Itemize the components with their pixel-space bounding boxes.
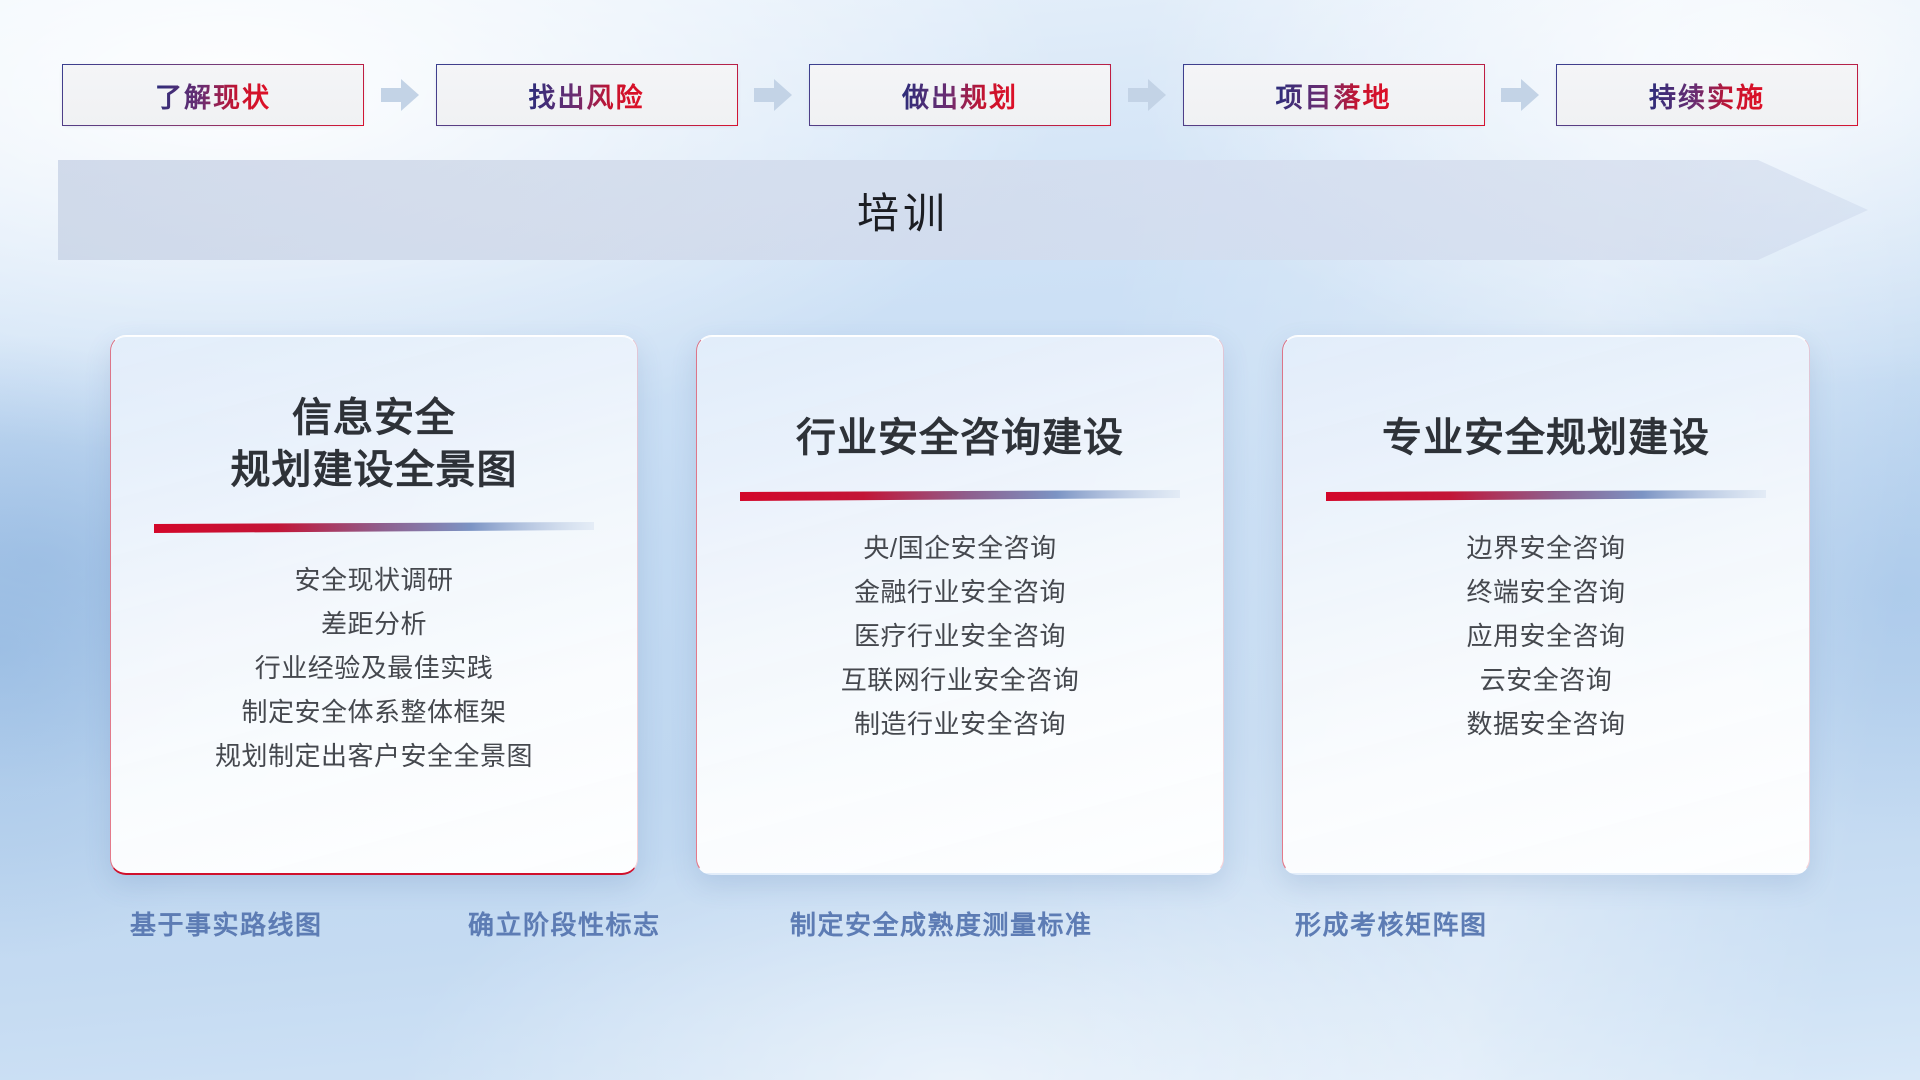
caption-maturity: 制定安全成熟度测量标准: [790, 905, 1093, 942]
list-item: 应用安全咨询: [1309, 614, 1783, 658]
card-row: 信息安全 规划建设全景图 安全现状调研 差距分析 行业经验及最佳实践: [110, 335, 1810, 875]
caption-roadmap: 基于事实路线图: [130, 905, 323, 942]
chevron-right-block-icon: [752, 76, 794, 114]
card-divider-icon: [154, 522, 594, 534]
list-item: 终端安全咨询: [1309, 570, 1783, 614]
list-item: 安全现状调研: [137, 558, 611, 602]
process-step-label: 持续实施: [1649, 76, 1765, 115]
card-title: 信息安全 规划建设全景图: [231, 392, 518, 496]
card-divider-icon: [740, 490, 1180, 502]
list-item: 边界安全咨询: [1309, 526, 1783, 570]
card-item-list: 边界安全咨询 终端安全咨询 应用安全咨询 云安全咨询 数据安全咨询: [1309, 526, 1783, 746]
caption-matrix: 形成考核矩阵图: [1295, 905, 1488, 942]
list-item: 制造行业安全咨询: [723, 702, 1197, 746]
list-item: 医疗行业安全咨询: [723, 614, 1197, 658]
list-item: 差距分析: [137, 602, 611, 646]
process-step-3[interactable]: 做出规划: [809, 64, 1111, 126]
list-item: 央/国企安全咨询: [723, 526, 1197, 570]
list-item: 行业经验及最佳实践: [137, 646, 611, 690]
caption-milestones: 确立阶段性标志: [468, 905, 661, 942]
chevron-right-block-icon: [379, 76, 421, 114]
list-item: 制定安全体系整体框架: [137, 690, 611, 734]
process-step-label: 项目落地: [1276, 76, 1392, 115]
chevron-right-block-icon: [1499, 76, 1541, 114]
process-step-label: 找出风险: [529, 76, 645, 115]
card-item-list: 安全现状调研 差距分析 行业经验及最佳实践 制定安全体系整体框架 规划制定出客户…: [137, 558, 611, 778]
training-banner: 培训: [58, 160, 1868, 260]
card-title: 专业安全规划建设: [1382, 412, 1710, 464]
list-item: 互联网行业安全咨询: [723, 658, 1197, 702]
list-item: 云安全咨询: [1309, 658, 1783, 702]
card-title: 行业安全咨询建设: [796, 412, 1124, 464]
process-step-label: 做出规划: [902, 76, 1018, 115]
list-item: 数据安全咨询: [1309, 702, 1783, 746]
caption-row: 基于事实路线图 确立阶段性标志 制定安全成熟度测量标准 形成考核矩阵图: [0, 905, 1920, 955]
list-item: 金融行业安全咨询: [723, 570, 1197, 614]
card-divider-icon: [1326, 490, 1766, 502]
card-professional-security-planning[interactable]: 专业安全规划建设 边界安全咨询 终端安全咨询 应用安全咨询 云安全: [1282, 335, 1810, 875]
process-step-4[interactable]: 项目落地: [1183, 64, 1485, 126]
list-item: 规划制定出客户安全全景图: [137, 734, 611, 778]
card-item-list: 央/国企安全咨询 金融行业安全咨询 医疗行业安全咨询 互联网行业安全咨询 制造行…: [723, 526, 1197, 746]
process-step-2[interactable]: 找出风险: [436, 64, 738, 126]
banner-title: 培训: [58, 160, 1748, 260]
process-step-1[interactable]: 了解现状: [62, 64, 364, 126]
process-step-5[interactable]: 持续实施: [1556, 64, 1858, 126]
process-step-label: 了解现状: [155, 76, 271, 115]
card-information-security-panorama[interactable]: 信息安全 规划建设全景图 安全现状调研 差距分析 行业经验及最佳实践: [110, 335, 638, 875]
card-industry-security-consulting[interactable]: 行业安全咨询建设 央/国企安全咨询 金融行业安全咨询 医疗行业安全咨询: [696, 335, 1224, 875]
chevron-right-block-icon: [1126, 76, 1168, 114]
process-step-row: 了解现状 找出风险 做出规划 项目落地 持续实施: [62, 64, 1858, 126]
